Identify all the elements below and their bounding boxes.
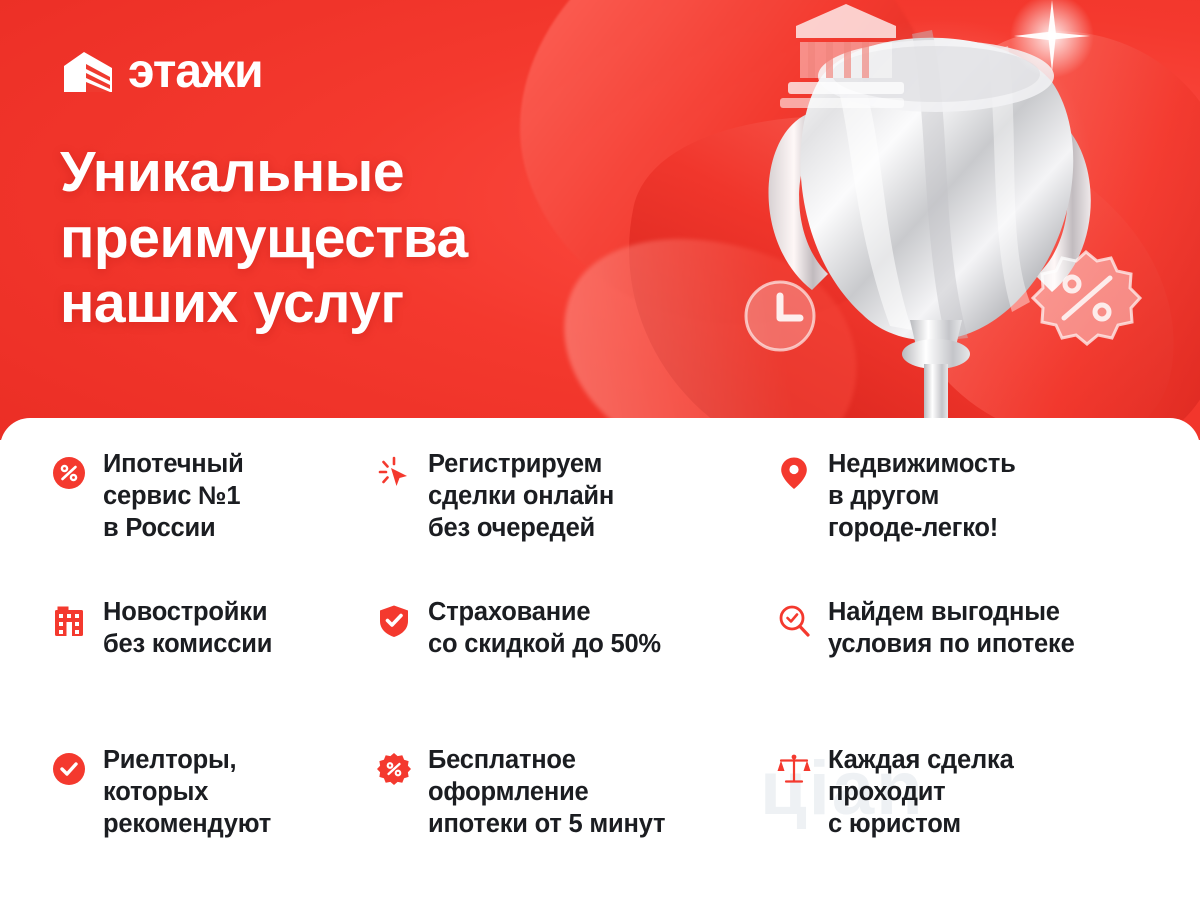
feature-label: Регистрируем сделки онлайн без очередей: [428, 448, 614, 544]
percent-badge-icon: [377, 752, 411, 786]
clock-icon: [746, 282, 814, 350]
feature-label: Бесплатное оформление ипотеки от 5 минут: [428, 744, 665, 840]
features-grid: Ипотечный сервис №1 в России: [0, 448, 1200, 864]
feature-item: Бесплатное оформление ипотеки от 5 минут: [377, 744, 777, 864]
page-title: Уникальные преимущества наших услуг: [60, 140, 468, 337]
feature-item: Найдем выгодные условия по ипотеке: [777, 596, 1148, 716]
feature-label: Риелторы, которых рекомендуют: [103, 744, 271, 840]
building-icon: [52, 604, 86, 638]
brand-logo[interactable]: этажи: [62, 48, 263, 96]
percent-circle-icon: [52, 456, 86, 490]
promo-banner: этажи Уникальные преимущества наших услу…: [0, 0, 1200, 900]
feature-item: Регистрируем сделки онлайн без очередей: [377, 448, 777, 568]
feature-item: Страхование со скидкой до 50%: [377, 596, 777, 716]
building-logo-icon: [62, 48, 114, 96]
feature-label: Недвижимость в другом городе-легко!: [828, 448, 1016, 544]
location-pin-icon: [777, 456, 811, 490]
feature-label: Ипотечный сервис №1 в России: [103, 448, 244, 544]
feature-item: Недвижимость в другом городе-легко!: [777, 448, 1148, 568]
headline-line-3: наших услуг: [60, 271, 468, 337]
silver-trophy-illustration: [700, 0, 1170, 440]
click-cursor-icon: [377, 456, 411, 490]
headline-line-2: преимущества: [60, 206, 468, 272]
check-circle-icon: [52, 752, 86, 786]
shield-check-icon: [377, 604, 411, 638]
bank-columns-icon: [780, 4, 904, 108]
feature-item: Новостройки без комиссии: [52, 596, 377, 716]
feature-item: Ипотечный сервис №1 в России: [52, 448, 377, 568]
feature-item: Риелторы, которых рекомендуют: [52, 744, 377, 864]
search-check-icon: [777, 604, 811, 638]
feature-label: Каждая сделка проходит с юристом: [828, 744, 1014, 840]
feature-label: Найдем выгодные условия по ипотеке: [828, 596, 1075, 660]
scales-justice-icon: [777, 752, 811, 786]
headline-line-1: Уникальные: [60, 140, 468, 206]
feature-item: Каждая сделка проходит с юристом: [777, 744, 1148, 864]
feature-label: Новостройки без комиссии: [103, 596, 272, 660]
feature-label: Страхование со скидкой до 50%: [428, 596, 661, 660]
brand-name: этажи: [128, 48, 263, 96]
